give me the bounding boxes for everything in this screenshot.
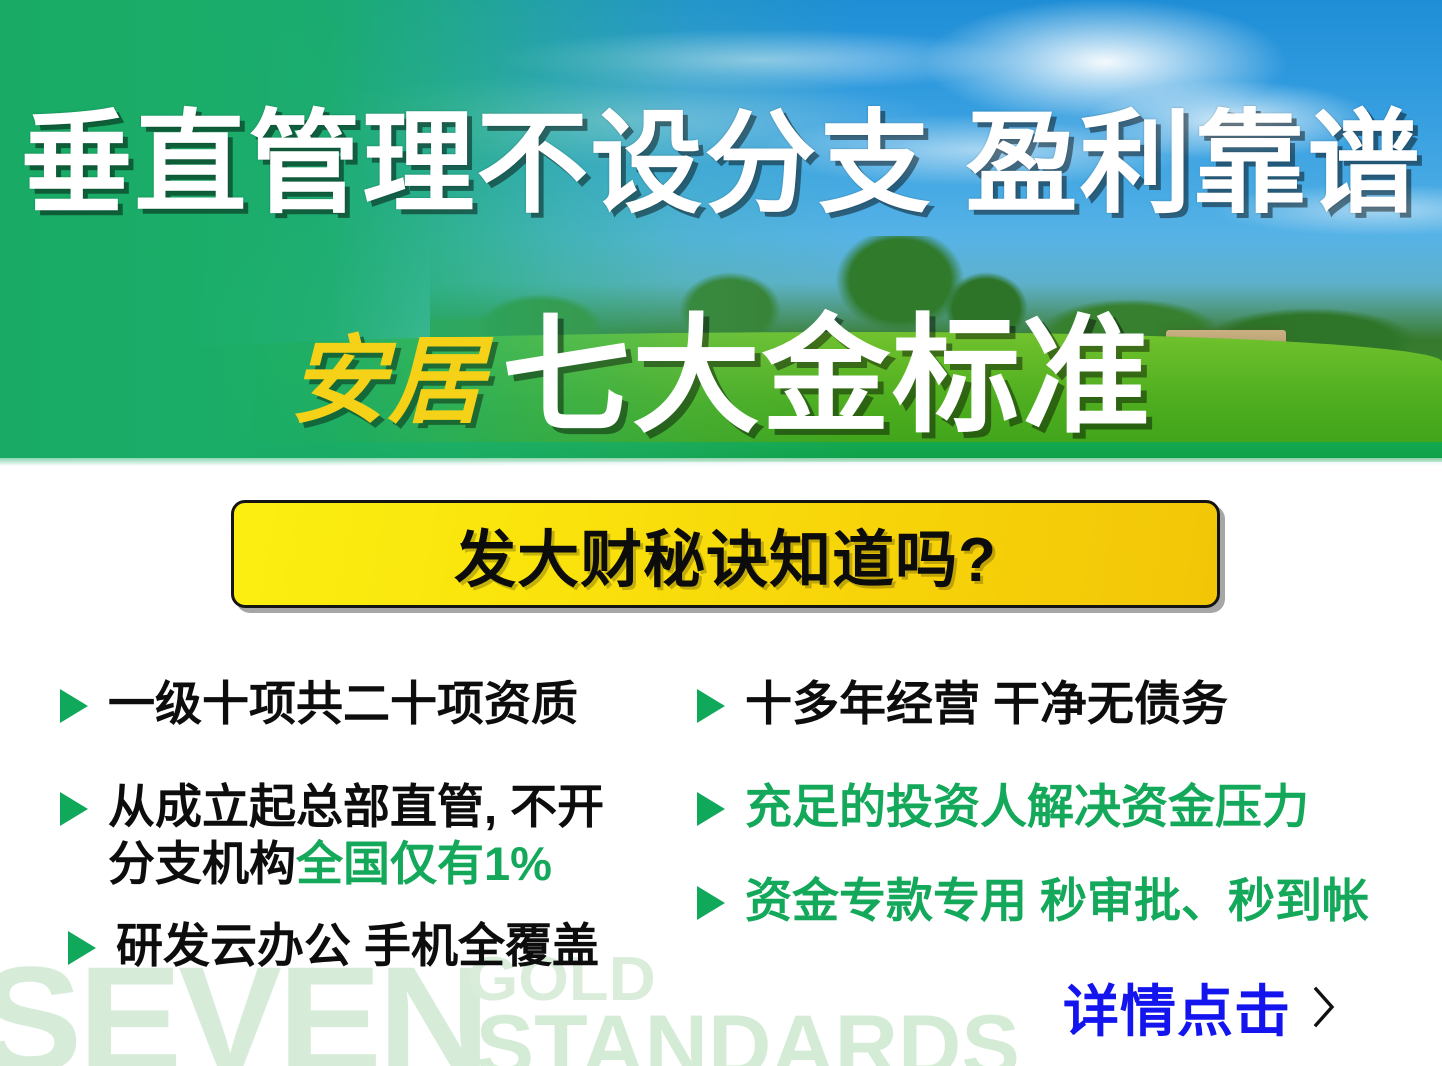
feature-item-right-1-text: 十多年经营 干净无债务 bbox=[745, 675, 1228, 732]
feature-line: 充足的投资人解决资金压力 bbox=[745, 778, 1309, 835]
feature-line: 分支机构全国仅有1% bbox=[108, 835, 604, 892]
feature-item-left-1-text: 一级十项共二十项资质 bbox=[108, 675, 578, 732]
feature-line-highlight: 全国仅有1% bbox=[296, 837, 552, 890]
hero-headline-primary: 垂直管理不设分支 盈利靠谱 bbox=[0, 108, 1442, 220]
feature-item-right-3-text: 资金专款专用 秒审批、秒到帐 bbox=[745, 872, 1369, 929]
feature-line: 一级十项共二十项资质 bbox=[108, 675, 578, 732]
chevron-right-icon bbox=[1311, 985, 1337, 1029]
feature-item-left-3-text: 研发云办公 手机全覆盖 bbox=[116, 917, 599, 974]
feature-item-left-2-text: 从成立起总部直管, 不开 分支机构全国仅有1% bbox=[108, 778, 604, 893]
details-cta-label: 详情点击 bbox=[1063, 967, 1291, 1048]
highlight-banner[interactable]: 发大财秘诀知道吗? bbox=[231, 500, 1220, 608]
feature-item-right-1: 十多年经营 干净无债务 bbox=[697, 675, 1228, 732]
triangle-right-icon bbox=[60, 689, 88, 723]
hero-headline-secondary: 安居 七大金标准 bbox=[0, 272, 1442, 457]
feature-item-left-2: 从成立起总部直管, 不开 分支机构全国仅有1% bbox=[60, 778, 604, 893]
feature-item-right-2-text: 充足的投资人解决资金压力 bbox=[745, 778, 1309, 835]
feature-line: 研发云办公 手机全覆盖 bbox=[116, 917, 599, 974]
feature-item-right-2: 充足的投资人解决资金压力 bbox=[697, 778, 1309, 835]
triangle-right-icon bbox=[697, 886, 725, 920]
feature-line: 十多年经营 干净无债务 bbox=[745, 675, 1228, 732]
triangle-right-icon bbox=[697, 792, 725, 826]
triangle-right-icon bbox=[68, 931, 96, 965]
feature-item-left-3: 研发云办公 手机全覆盖 bbox=[68, 917, 599, 974]
hero-text-group: 垂直管理不设分支 盈利靠谱 安居 七大金标准 bbox=[0, 0, 1442, 466]
highlight-banner-text: 发大财秘诀知道吗? bbox=[454, 509, 997, 599]
details-cta-button[interactable]: 详情点击 bbox=[1063, 972, 1383, 1042]
hero-banner: 垂直管理不设分支 盈利靠谱 安居 七大金标准 bbox=[0, 0, 1442, 466]
feature-item-left-1: 一级十项共二十项资质 bbox=[60, 675, 578, 732]
watermark-standards: STANDARDS bbox=[475, 1008, 1019, 1066]
feature-line: 资金专款专用 秒审批、秒到帐 bbox=[745, 872, 1369, 929]
feature-line-plain: 分支机构 bbox=[108, 837, 296, 890]
feature-list: 一级十项共二十项资质 从成立起总部直管, 不开 分支机构全国仅有1% 研发云办公… bbox=[0, 660, 1442, 1000]
hero-headline-brand: 安居 bbox=[290, 303, 486, 442]
triangle-right-icon bbox=[697, 689, 725, 723]
triangle-right-icon bbox=[60, 792, 88, 826]
feature-line: 从成立起总部直管, 不开 bbox=[108, 778, 604, 835]
feature-item-right-3: 资金专款专用 秒审批、秒到帐 bbox=[697, 872, 1369, 929]
hero-headline-slogan: 七大金标准 bbox=[502, 272, 1152, 457]
